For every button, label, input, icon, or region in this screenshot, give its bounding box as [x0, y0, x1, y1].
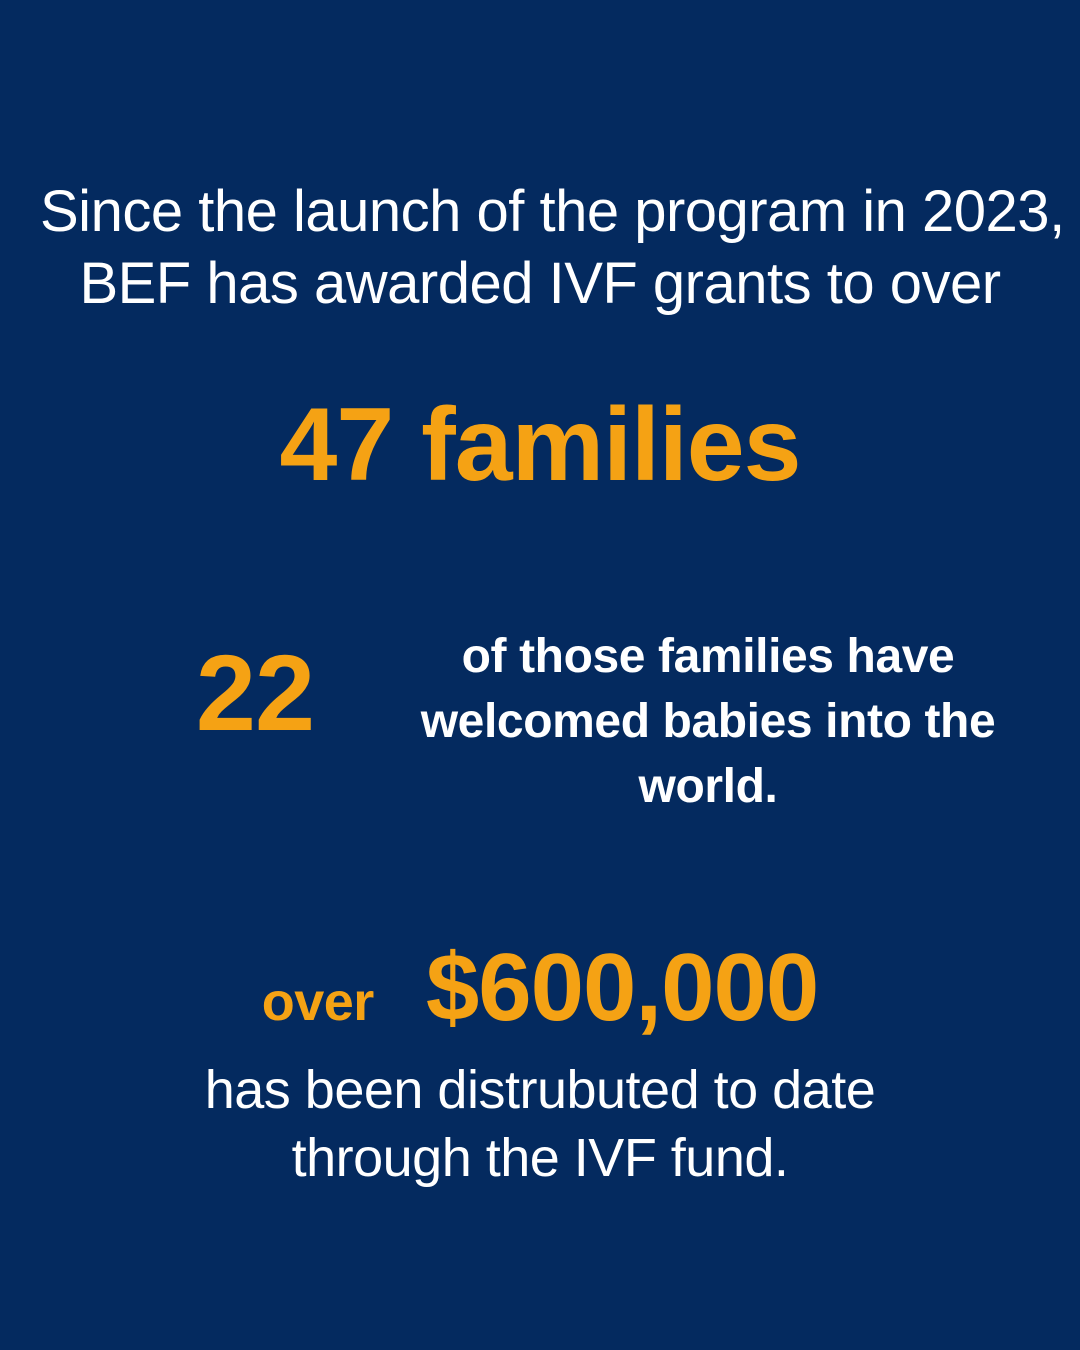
stat-copy-block: of those families have welcomed babies i…: [360, 624, 1050, 819]
money-row: over $600,000: [40, 938, 1040, 1038]
poster-canvas: Since the launch of the program in 2023,…: [0, 0, 1080, 1350]
money-amount-total: $600,000: [426, 938, 818, 1038]
money-prefix-over: over: [262, 972, 374, 1032]
headline-block: 47 families: [40, 386, 1040, 504]
stat-row-babies: 22 of those families have welcomed babie…: [150, 624, 1050, 819]
outro-line-1: has been distrubuted to date: [40, 1056, 1040, 1124]
stat-number-22: 22: [150, 624, 360, 748]
stat-copy-line-1: of those families have: [366, 624, 1050, 689]
intro-line-2: BEF has awarded IVF grants to over: [40, 248, 1040, 320]
intro-line-1: Since the launch of the program in 2023,: [40, 176, 1040, 248]
intro-paragraph: Since the launch of the program in 2023,…: [40, 176, 1040, 320]
headline-families-count: 47 families: [280, 386, 801, 504]
outro-line-2: through the IVF fund.: [40, 1124, 1040, 1192]
outro-paragraph: has been distrubuted to date through the…: [40, 1056, 1040, 1192]
stat-copy-line-3: world.: [366, 754, 1050, 819]
stat-copy-line-2: welcomed babies into the: [366, 689, 1050, 754]
